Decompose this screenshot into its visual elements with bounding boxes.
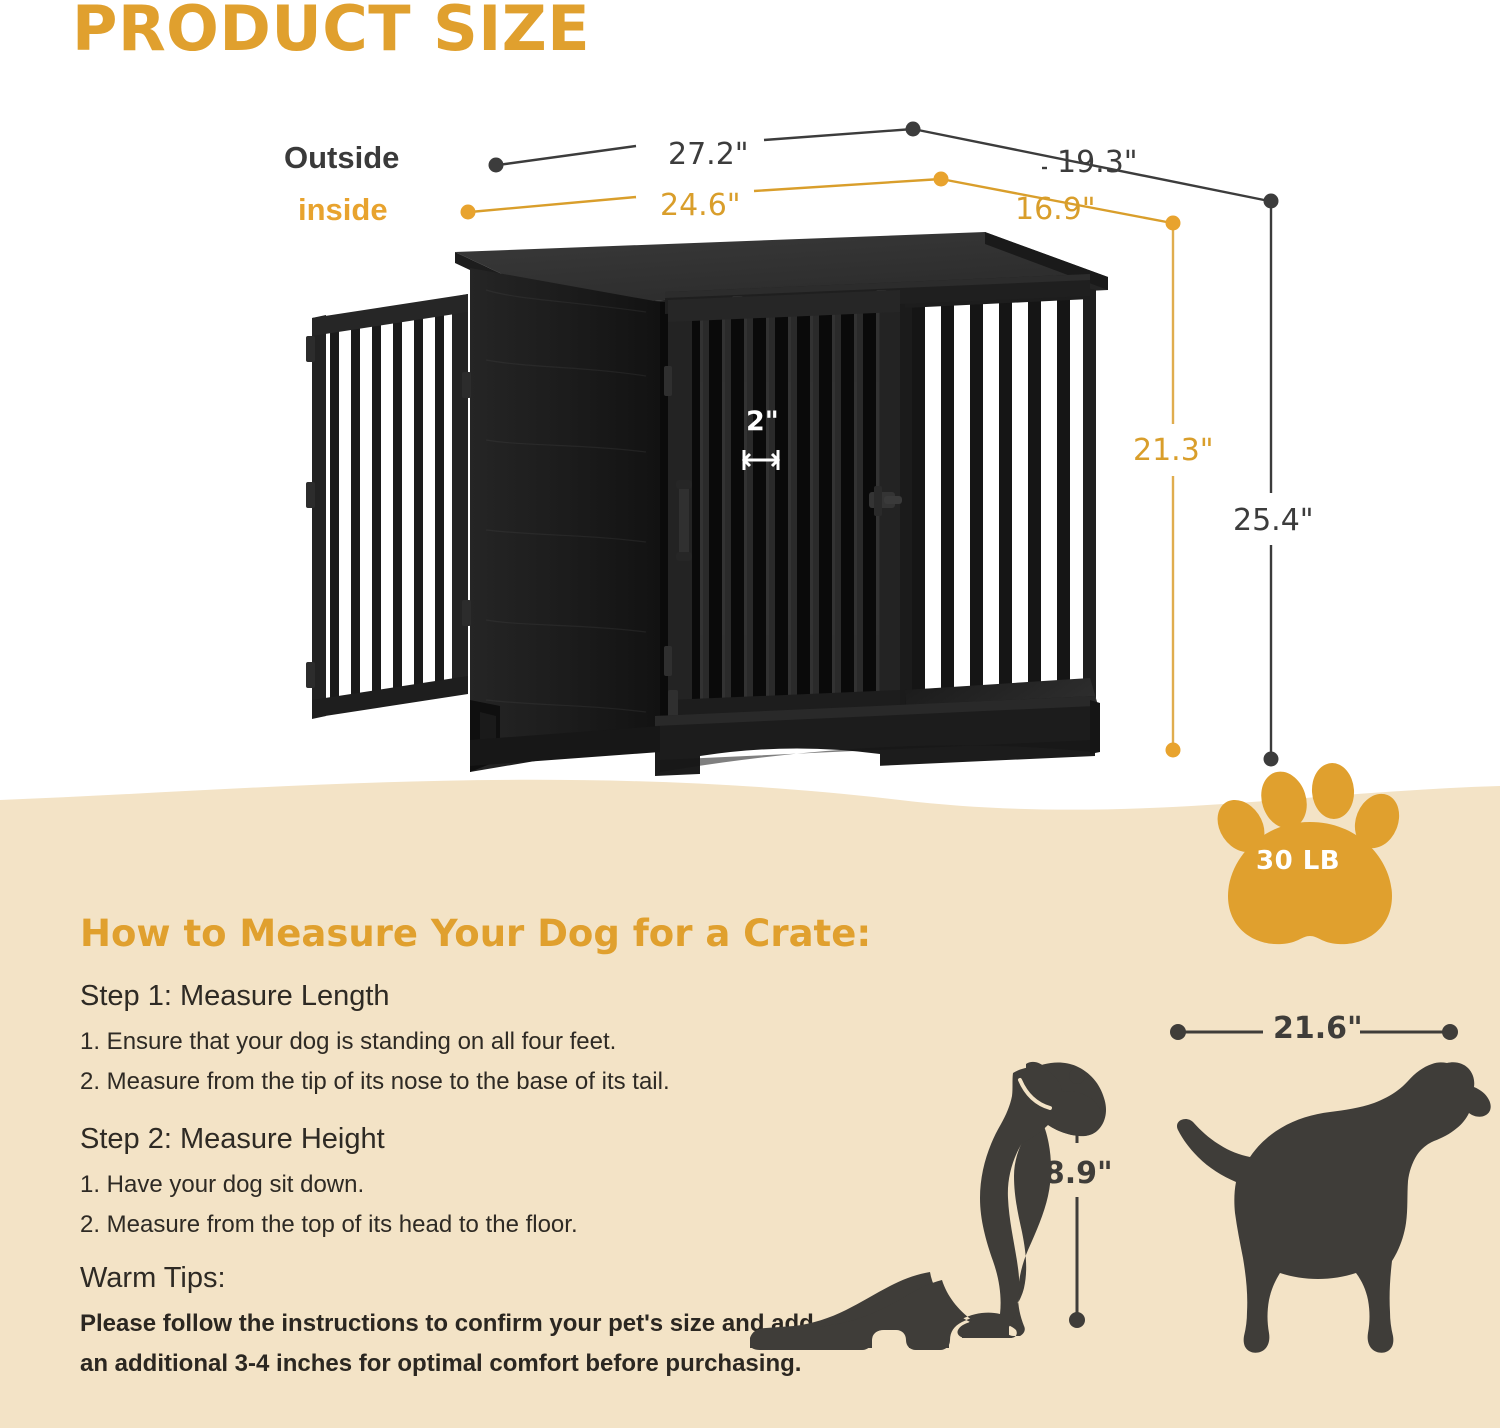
dim-endpoint-dot	[1069, 1068, 1085, 1084]
weight-badge-label: 30 LB	[1256, 846, 1340, 876]
standing-dog-silhouette	[1177, 1062, 1491, 1353]
dim-endpoint-dot	[1170, 1024, 1186, 1040]
infographic-stage: PRODUCT SIZE	[0, 0, 1500, 1428]
dog-measurement-diagram	[0, 0, 1500, 1428]
dim-endpoint-dot	[1442, 1024, 1458, 1040]
dim-bar-spacing: 2"	[746, 406, 779, 437]
dim-endpoint-dot	[1069, 1312, 1085, 1328]
